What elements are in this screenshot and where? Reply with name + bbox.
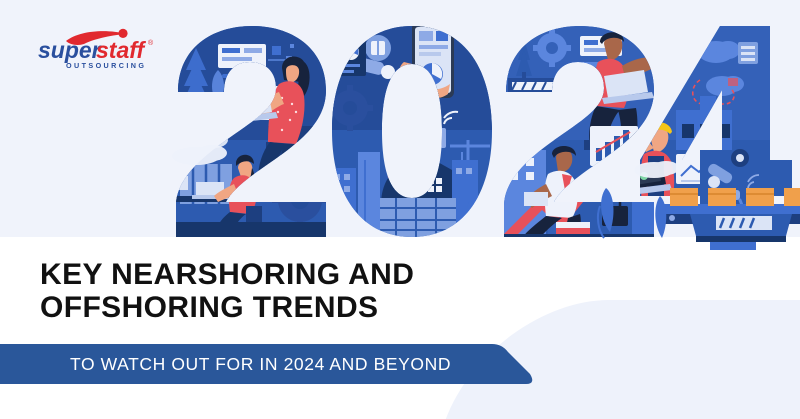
laptop [224,90,278,124]
stacked-books [556,222,592,240]
digit-2-second-scene [500,20,660,242]
subtitle-banner: TO WATCH OUT FOR IN 2024 AND BEYOND [0,344,600,385]
padlock-shield-icon [398,96,438,150]
headline-line-1: KEY NEARSHORING AND [40,258,414,291]
potted-plant [655,196,666,238]
poster-canvas: super staff ® OUTSOURCING [0,0,800,419]
office-block [380,198,456,238]
printer-machine [506,78,564,132]
headline-line-2: OFFSHORING TRENDS [40,291,510,324]
digit-0-scene [325,20,500,240]
ui-bar [222,74,246,78]
ui-bar [252,74,262,78]
cpu-chip-icon [365,35,391,61]
banner-label: TO WATCH OUT FOR IN 2024 AND BEYOND [70,344,451,385]
page-title: KEY NEARSHORING AND OFFSHORING TRENDS [40,258,510,324]
year-2024-illustration [0,0,800,250]
bar-chart-panel [590,126,638,166]
dashboard-window [218,44,266,68]
pie-chart-screen [336,40,366,76]
digit-2-first-scene [167,20,335,240]
